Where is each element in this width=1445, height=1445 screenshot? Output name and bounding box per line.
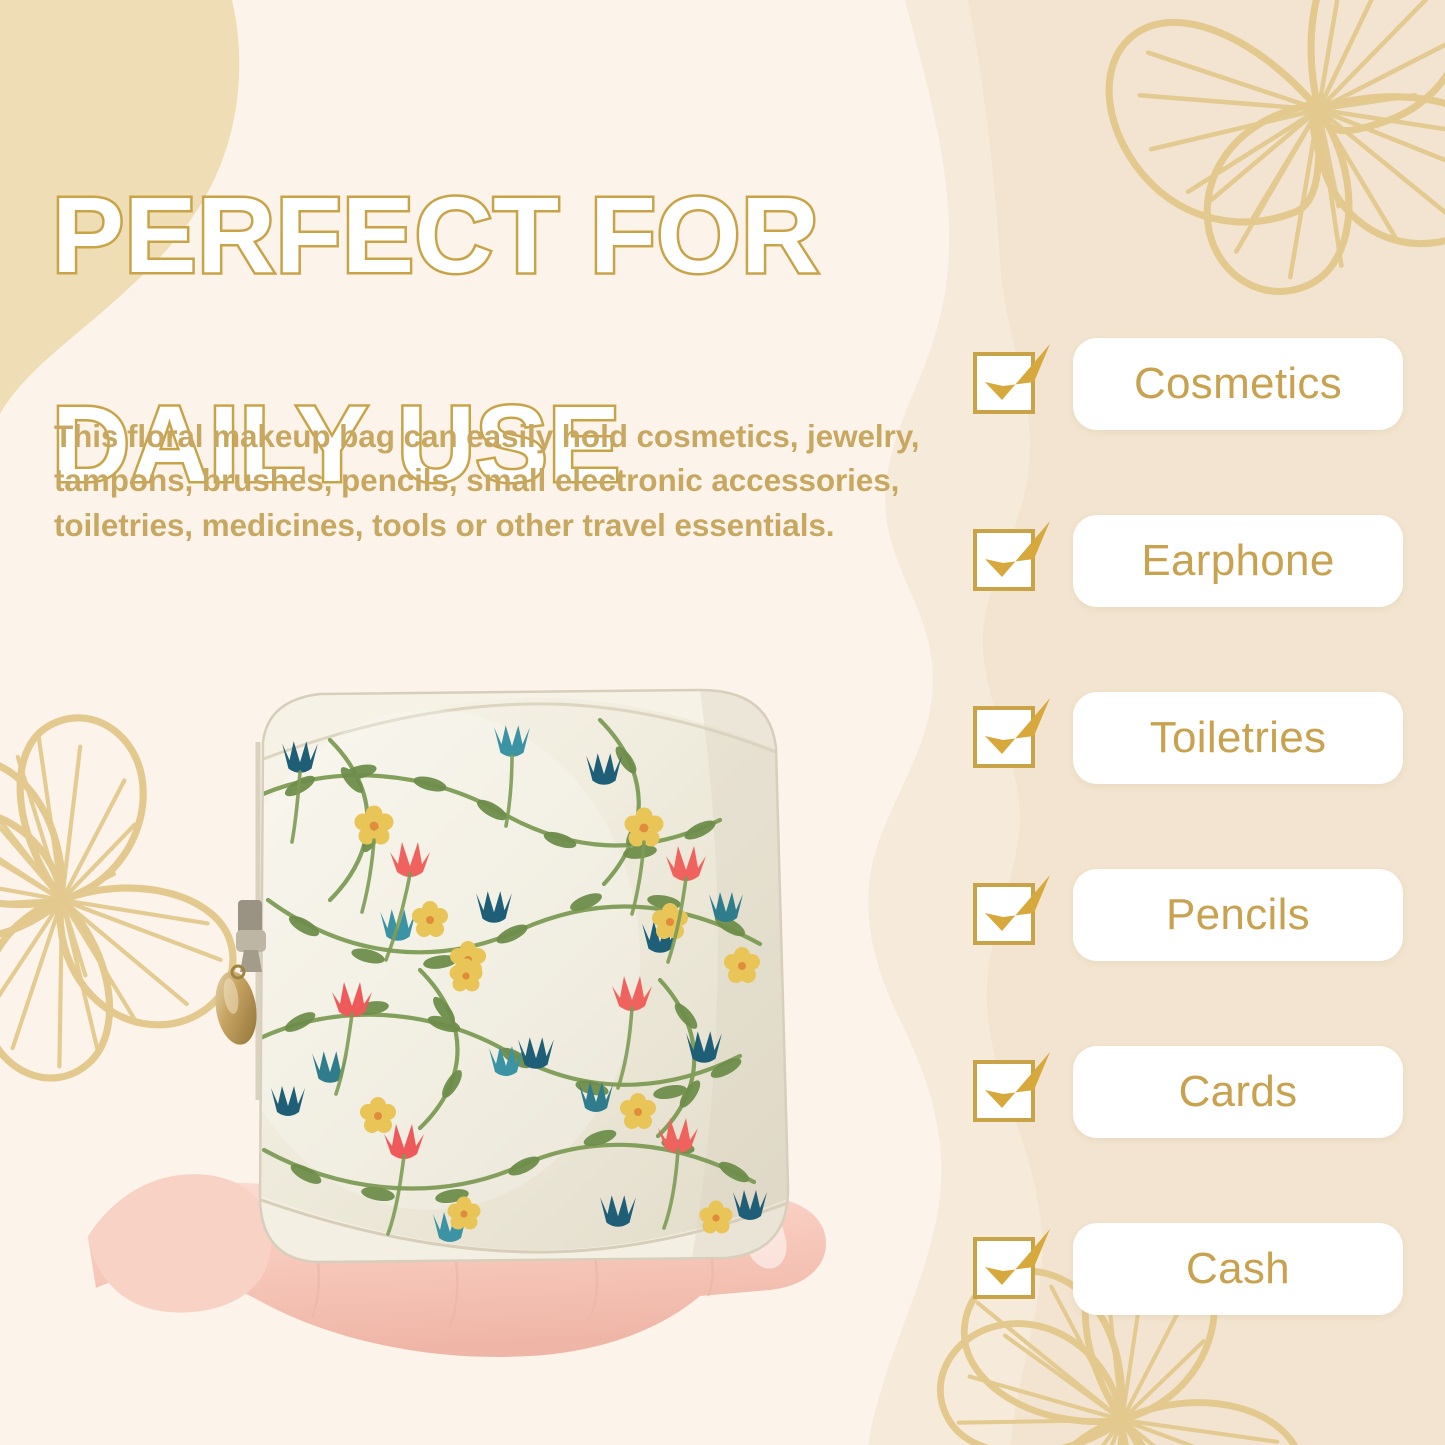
- feature-pill[interactable]: Cards: [1073, 1046, 1403, 1138]
- checkbox-checked-icon[interactable]: [972, 342, 1054, 418]
- checklist-row[interactable]: Earphone: [972, 515, 1412, 692]
- checkbox-checked-icon[interactable]: [972, 873, 1054, 949]
- feature-checklist: Cosmetics Earphone Toiletries: [972, 338, 1412, 1400]
- checklist-row[interactable]: Pencils: [972, 869, 1412, 1046]
- product-infographic: PERFECT FOR DAILY USE This floral makeup…: [0, 0, 1445, 1445]
- feature-label: Cosmetics: [1134, 359, 1342, 409]
- page-title-line-1: PERFECT FOR: [52, 183, 992, 288]
- feature-label: Cash: [1186, 1244, 1290, 1294]
- feature-pill[interactable]: Pencils: [1073, 869, 1403, 961]
- checklist-row[interactable]: Cosmetics: [972, 338, 1412, 515]
- checklist-row[interactable]: Toiletries: [972, 692, 1412, 869]
- feature-pill[interactable]: Earphone: [1073, 515, 1403, 607]
- feature-pill[interactable]: Cash: [1073, 1223, 1403, 1315]
- feature-label: Earphone: [1141, 536, 1334, 586]
- checkbox-checked-icon[interactable]: [972, 519, 1054, 595]
- zipper-pull-icon: [210, 742, 266, 1100]
- feature-label: Cards: [1179, 1067, 1298, 1117]
- feature-pill[interactable]: Toiletries: [1073, 692, 1403, 784]
- description-paragraph: This floral makeup bag can easily hold c…: [54, 414, 959, 548]
- checkbox-checked-icon[interactable]: [972, 1050, 1054, 1126]
- checkbox-checked-icon[interactable]: [972, 1227, 1054, 1303]
- checklist-row[interactable]: Cards: [972, 1046, 1412, 1223]
- feature-label: Pencils: [1166, 890, 1310, 940]
- makeup-bag: [220, 690, 800, 1270]
- checkbox-checked-icon[interactable]: [972, 696, 1054, 772]
- product-image: [85, 660, 845, 1445]
- feature-label: Toiletries: [1150, 713, 1327, 763]
- feature-pill[interactable]: Cosmetics: [1073, 338, 1403, 430]
- checklist-row[interactable]: Cash: [972, 1223, 1412, 1400]
